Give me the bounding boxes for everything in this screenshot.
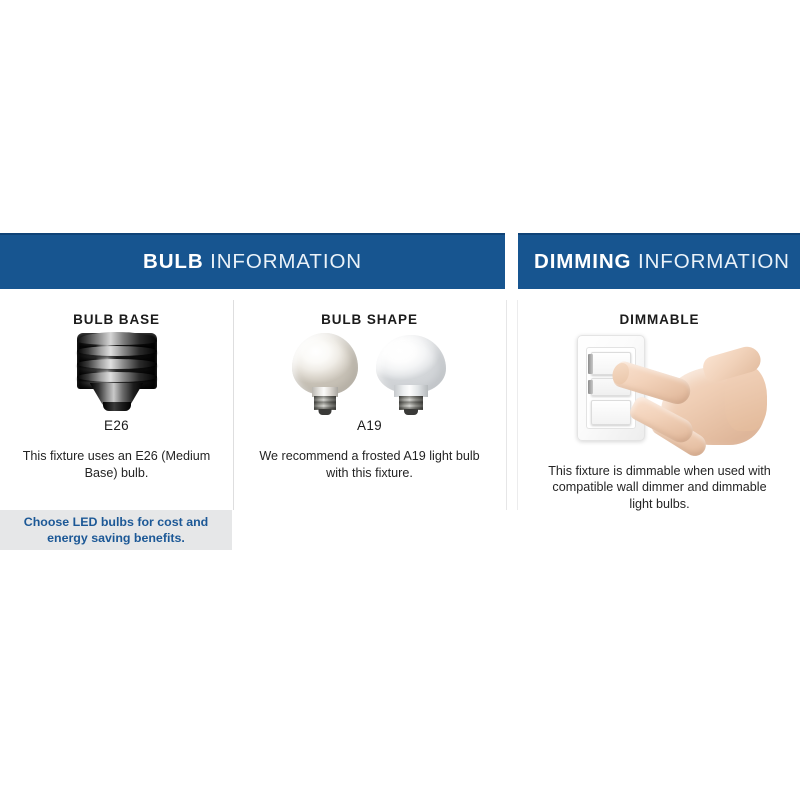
dimmable-column: DIMMABLE xyxy=(519,289,800,513)
bulb-screw-base xyxy=(399,396,423,410)
bulb-base-heading: BULB BASE xyxy=(0,289,233,327)
banner-row: BULB INFORMATION DIMMING INFORMATION xyxy=(0,233,800,289)
bulb-shape-description: We recommend a frosted A19 light bulb wi… xyxy=(259,432,481,482)
led-callout-text: Choose LED bulbs for cost and energy sav… xyxy=(16,514,216,547)
bulb-shape-illustration xyxy=(234,327,505,419)
dimming-information-banner: DIMMING INFORMATION xyxy=(518,233,800,289)
bulb-shape-heading: BULB SHAPE xyxy=(234,289,505,327)
bulb-information-title: BULB INFORMATION xyxy=(143,252,362,273)
bulb-base-illustration xyxy=(0,327,233,419)
bulb-contact-tip xyxy=(404,409,418,415)
hand-index-finger xyxy=(611,359,693,407)
bulb-shape-column: BULB SHAPE A19 We recommend a frosted A1… xyxy=(234,289,505,482)
dimmable-description: This fixture is dimmable when used with … xyxy=(541,449,779,514)
dimmable-heading: DIMMABLE xyxy=(519,289,800,327)
bulb-base-description: This fixture uses an E26 (Medium Base) b… xyxy=(17,432,217,482)
a19-bulbs-icon xyxy=(286,331,454,415)
dimming-information-title-light: INFORMATION xyxy=(631,250,789,273)
column-divider-2 xyxy=(506,300,507,510)
bulb-base-column: BULB BASE E26 This fixture uses an E26 (… xyxy=(0,289,233,482)
bulb-screw-base xyxy=(314,396,336,410)
hand-icon xyxy=(607,345,763,447)
bulb-glass xyxy=(292,333,358,395)
e26-thread-ring xyxy=(77,359,157,369)
e26-contact-tip xyxy=(103,402,131,411)
led-callout-box: Choose LED bulbs for cost and energy sav… xyxy=(0,510,232,550)
bulb-information-title-light: INFORMATION xyxy=(204,250,362,273)
dimming-information-title-bold: DIMMING xyxy=(534,250,631,273)
incandescent-a19-bulb-icon xyxy=(292,333,358,415)
column-divider-3 xyxy=(517,300,518,510)
bulb-shape-value: A19 xyxy=(234,419,505,433)
dimmer-slot xyxy=(588,354,593,374)
bulb-information-banner: BULB INFORMATION xyxy=(0,233,505,289)
e26-thread-ring xyxy=(77,346,157,356)
e26-thread-ring xyxy=(77,372,157,382)
e26-top-rim xyxy=(77,332,157,345)
e26-screw-base-icon xyxy=(75,333,159,411)
dimming-information-title: DIMMING INFORMATION xyxy=(534,252,790,273)
bulb-information-title-bold: BULB xyxy=(143,250,204,273)
led-a19-bulb-icon xyxy=(376,335,446,415)
hand-on-wall-dimmer-icon xyxy=(555,329,765,447)
bulb-base-value: E26 xyxy=(0,419,233,433)
dimmer-slot xyxy=(588,380,593,394)
bulb-contact-tip xyxy=(318,409,331,415)
dimmable-illustration xyxy=(519,327,800,449)
